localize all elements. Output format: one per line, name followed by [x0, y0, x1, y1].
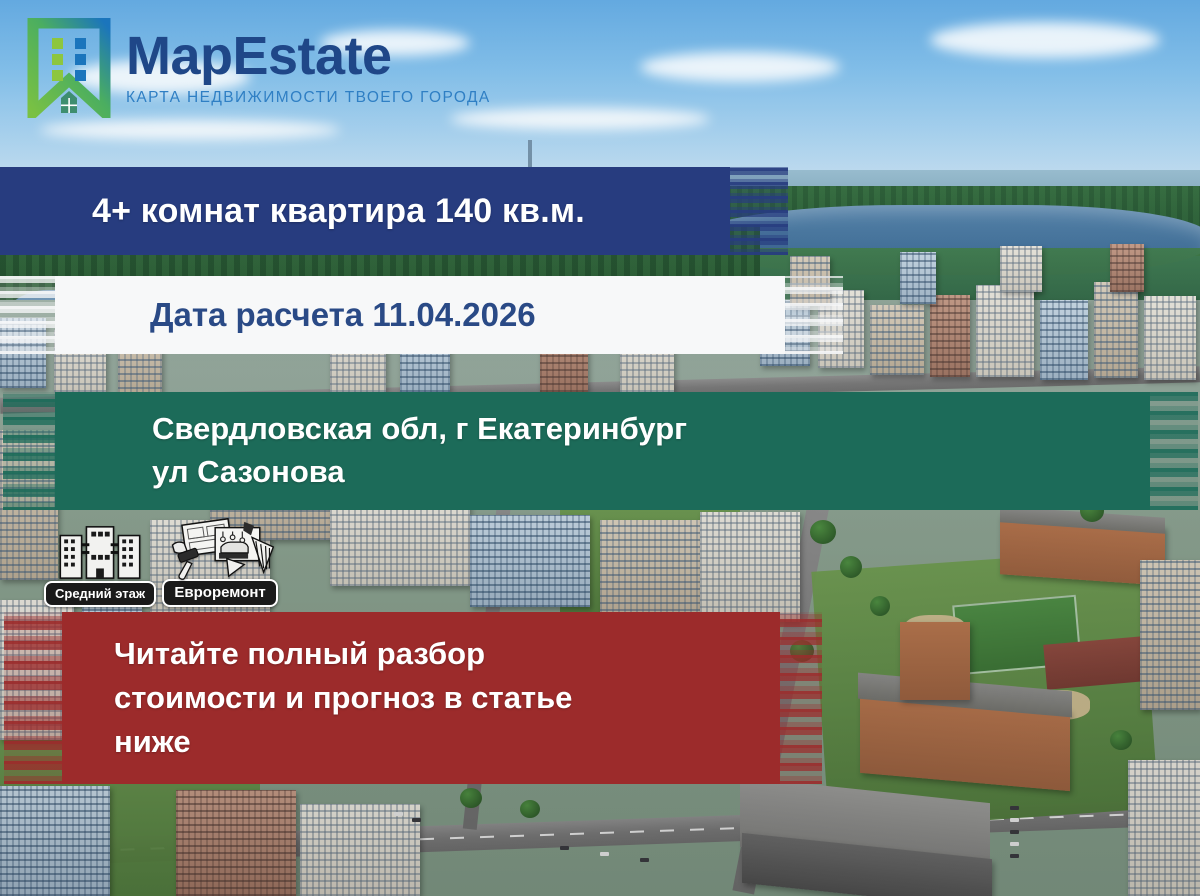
cloud-shape — [40, 120, 340, 140]
apartment-block — [1140, 560, 1200, 710]
calculation-date-text: Дата расчета 11.04.2026 — [55, 296, 536, 334]
car — [1010, 806, 1019, 810]
brand-wordmark: MapEstate — [126, 29, 491, 83]
banner-smear-right — [783, 276, 843, 354]
banner-smear-right — [1148, 392, 1198, 510]
apartment-block — [176, 790, 296, 896]
banner-smear-left — [3, 392, 57, 510]
cta-banner[interactable]: Читайте полный разбор стоимости и прогно… — [62, 612, 780, 784]
brand-text: MapEstate КАРТА НЕДВИЖИМОСТИ ТВОЕГО ГОРО… — [126, 29, 491, 107]
tree — [520, 800, 540, 818]
feature-badges: Средний этаж — [44, 516, 278, 607]
real-estate-promo-poster: 4+ комнат квартира 140 кв.м. Дата расчет… — [0, 0, 1200, 896]
apartment-block — [300, 804, 420, 896]
apartment-block — [1000, 246, 1042, 292]
tree — [1110, 730, 1132, 750]
apartment-block — [1128, 760, 1200, 896]
apartment-block — [976, 285, 1034, 377]
car — [394, 812, 403, 816]
apartment-block — [1094, 282, 1138, 378]
cta-line-2: стоимости и прогноз в статье — [62, 676, 572, 720]
car — [640, 858, 649, 862]
apartment-block — [0, 786, 110, 896]
cloud-shape — [640, 52, 840, 82]
banner-smear-right — [728, 167, 788, 255]
apartment-block — [700, 512, 800, 622]
rooms-banner-text: 4+ комнат квартира 140 кв.м. — [0, 192, 585, 231]
tree — [840, 556, 862, 578]
banner-smear-left — [0, 276, 57, 354]
cloud-shape — [930, 22, 1160, 58]
car — [560, 846, 569, 850]
renovation-tools-icon — [162, 516, 278, 585]
car — [1010, 842, 1019, 846]
banner-smear-left — [4, 612, 64, 784]
apartment-block — [600, 520, 710, 618]
banner-smear-right — [778, 612, 822, 784]
calculation-date-banner: Дата расчета 11.04.2026 — [55, 276, 785, 354]
address-banner: Свердловская обл, г Екатеринбург ул Сазо… — [55, 392, 1150, 510]
car — [1010, 854, 1019, 858]
apartment-block — [930, 295, 970, 377]
apartment-block — [1110, 244, 1144, 292]
brand-tagline: КАРТА НЕДВИЖИМОСТИ ТВОЕГО ГОРОДА — [126, 89, 491, 107]
tree — [460, 788, 482, 808]
address-line-1: Свердловская обл, г Екатеринбург — [55, 408, 687, 451]
car — [600, 852, 609, 856]
badge-euro-renovation[interactable]: Евроремонт — [162, 516, 278, 607]
car — [1010, 818, 1019, 822]
badge-middle-floor[interactable]: Средний этаж — [44, 522, 156, 607]
apartment-block — [870, 305, 924, 375]
car — [1010, 830, 1019, 834]
school-wing — [900, 622, 970, 700]
apartment-block — [1144, 296, 1196, 380]
brand-logo[interactable]: MapEstate КАРТА НЕДВИЖИМОСТИ ТВОЕГО ГОРО… — [26, 18, 491, 118]
apartment-block — [470, 515, 590, 607]
cta-line-1: Читайте полный разбор — [62, 632, 485, 676]
tree — [810, 520, 836, 544]
apartment-building-icon — [56, 522, 144, 587]
cta-line-3: ниже — [62, 720, 191, 764]
bookmark-building-icon — [26, 18, 112, 118]
apartment-block — [330, 500, 470, 586]
apartment-block — [1040, 300, 1088, 380]
apartment-block — [900, 252, 936, 304]
address-line-2: ул Сазонова — [55, 451, 345, 494]
tree — [870, 596, 890, 616]
rooms-banner: 4+ комнат квартира 140 кв.м. — [0, 167, 730, 255]
car — [412, 818, 421, 822]
